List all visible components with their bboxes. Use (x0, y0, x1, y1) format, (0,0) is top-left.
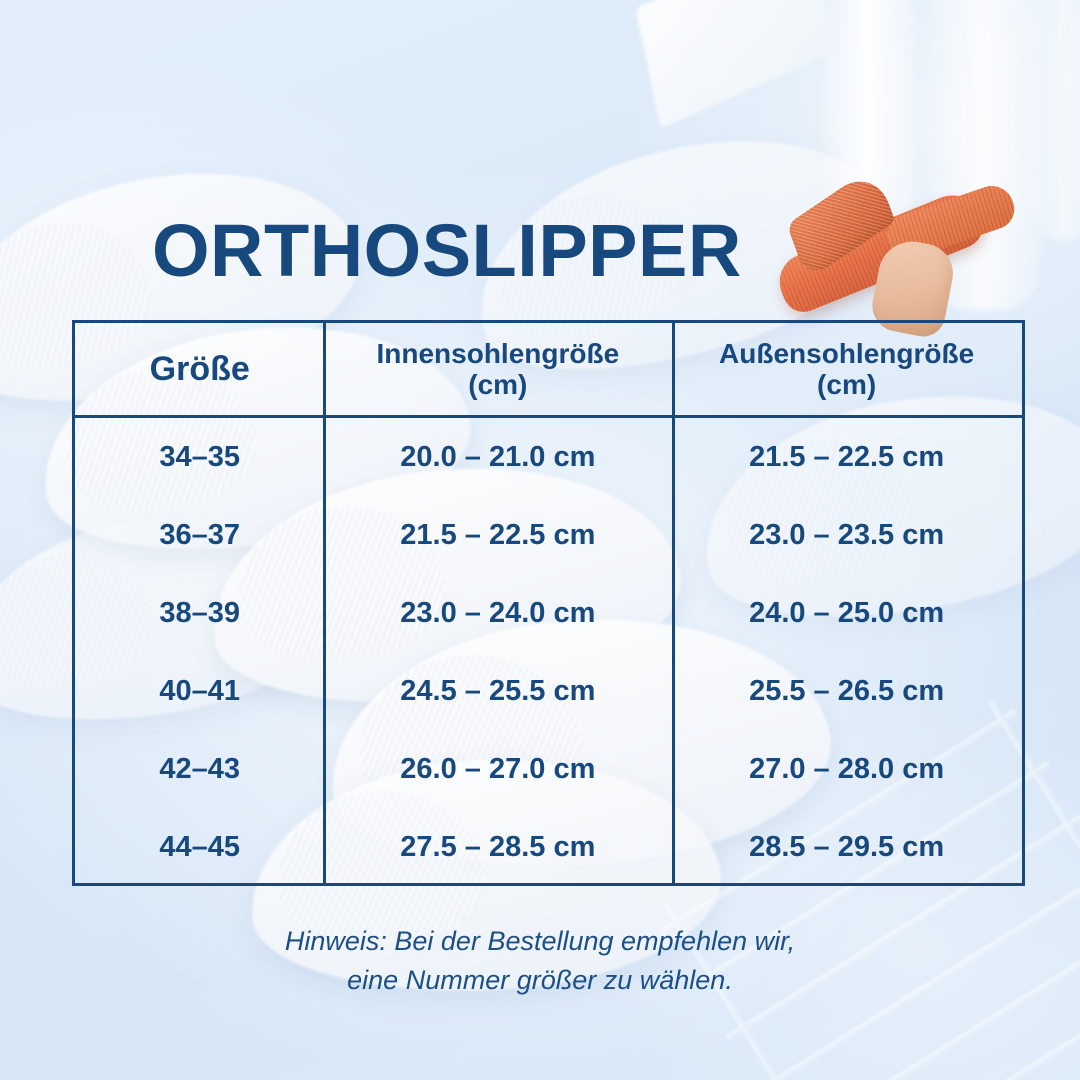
cell-size: 34–35 (75, 441, 324, 474)
cell-insole: 24.5 – 25.5 cm (324, 675, 671, 708)
cell-insole: 26.0 – 27.0 cm (324, 753, 671, 786)
table-row: 38–39 23.0 – 24.0 cm 24.0 – 25.0 cm (75, 574, 1022, 652)
background-tray (635, 0, 834, 129)
background-column (1030, 0, 1080, 240)
table-row: 36–37 21.5 – 22.5 cm 23.0 – 23.5 cm (75, 496, 1022, 574)
cell-insole: 21.5 – 22.5 cm (324, 519, 671, 552)
cell-size: 42–43 (75, 753, 324, 786)
cell-insole: 23.0 – 24.0 cm (324, 597, 671, 630)
footnote: Hinweis: Bei der Bestellung empfehlen wi… (0, 922, 1080, 1000)
column-header-outsole-line2: (cm) (719, 369, 974, 400)
column-header-size: Größe (75, 323, 324, 415)
table-row: 44–45 27.5 – 28.5 cm 28.5 – 29.5 cm (75, 808, 1022, 886)
column-header-outsole: Außensohlengröße (cm) (671, 323, 1022, 415)
cell-size: 40–41 (75, 675, 324, 708)
table-row: 34–35 20.0 – 21.0 cm 21.5 – 22.5 cm (75, 418, 1022, 496)
cell-insole: 20.0 – 21.0 cm (324, 441, 671, 474)
cell-size: 44–45 (75, 831, 324, 864)
cell-insole: 27.5 – 28.5 cm (324, 831, 671, 864)
column-header-outsole-line1: Außensohlengröße (719, 338, 974, 369)
page-title: ORTHOSLIPPER (152, 214, 742, 288)
size-table: Größe Innensohlengröße (cm) Außensohleng… (72, 320, 1025, 886)
table-row: 40–41 24.5 – 25.5 cm 25.5 – 26.5 cm (75, 652, 1022, 730)
cell-outsole: 24.0 – 25.0 cm (671, 597, 1022, 630)
column-header-insole: Innensohlengröße (cm) (324, 323, 671, 415)
column-header-insole-line2: (cm) (376, 369, 619, 400)
table-row: 42–43 26.0 – 27.0 cm 27.0 – 28.0 cm (75, 730, 1022, 808)
table-body: 34–35 20.0 – 21.0 cm 21.5 – 22.5 cm 36–3… (75, 418, 1022, 883)
cell-outsole: 25.5 – 26.5 cm (671, 675, 1022, 708)
footnote-line-2: eine Nummer größer zu wählen. (0, 961, 1080, 1000)
cell-outsole: 27.0 – 28.0 cm (671, 753, 1022, 786)
cell-outsole: 28.5 – 29.5 cm (671, 831, 1022, 864)
cell-size: 38–39 (75, 597, 324, 630)
cell-outsole: 23.0 – 23.5 cm (671, 519, 1022, 552)
column-header-insole-line1: Innensohlengröße (376, 338, 619, 369)
footnote-line-1: Hinweis: Bei der Bestellung empfehlen wi… (0, 922, 1080, 961)
orange-slipper-in-hand-icon (768, 176, 1033, 326)
size-chart-page: ORTHOSLIPPER Größe Innensohlengröße (cm)… (0, 0, 1080, 1080)
cell-outsole: 21.5 – 22.5 cm (671, 441, 1022, 474)
cell-size: 36–37 (75, 519, 324, 552)
table-header-row: Größe Innensohlengröße (cm) Außensohleng… (75, 323, 1022, 418)
